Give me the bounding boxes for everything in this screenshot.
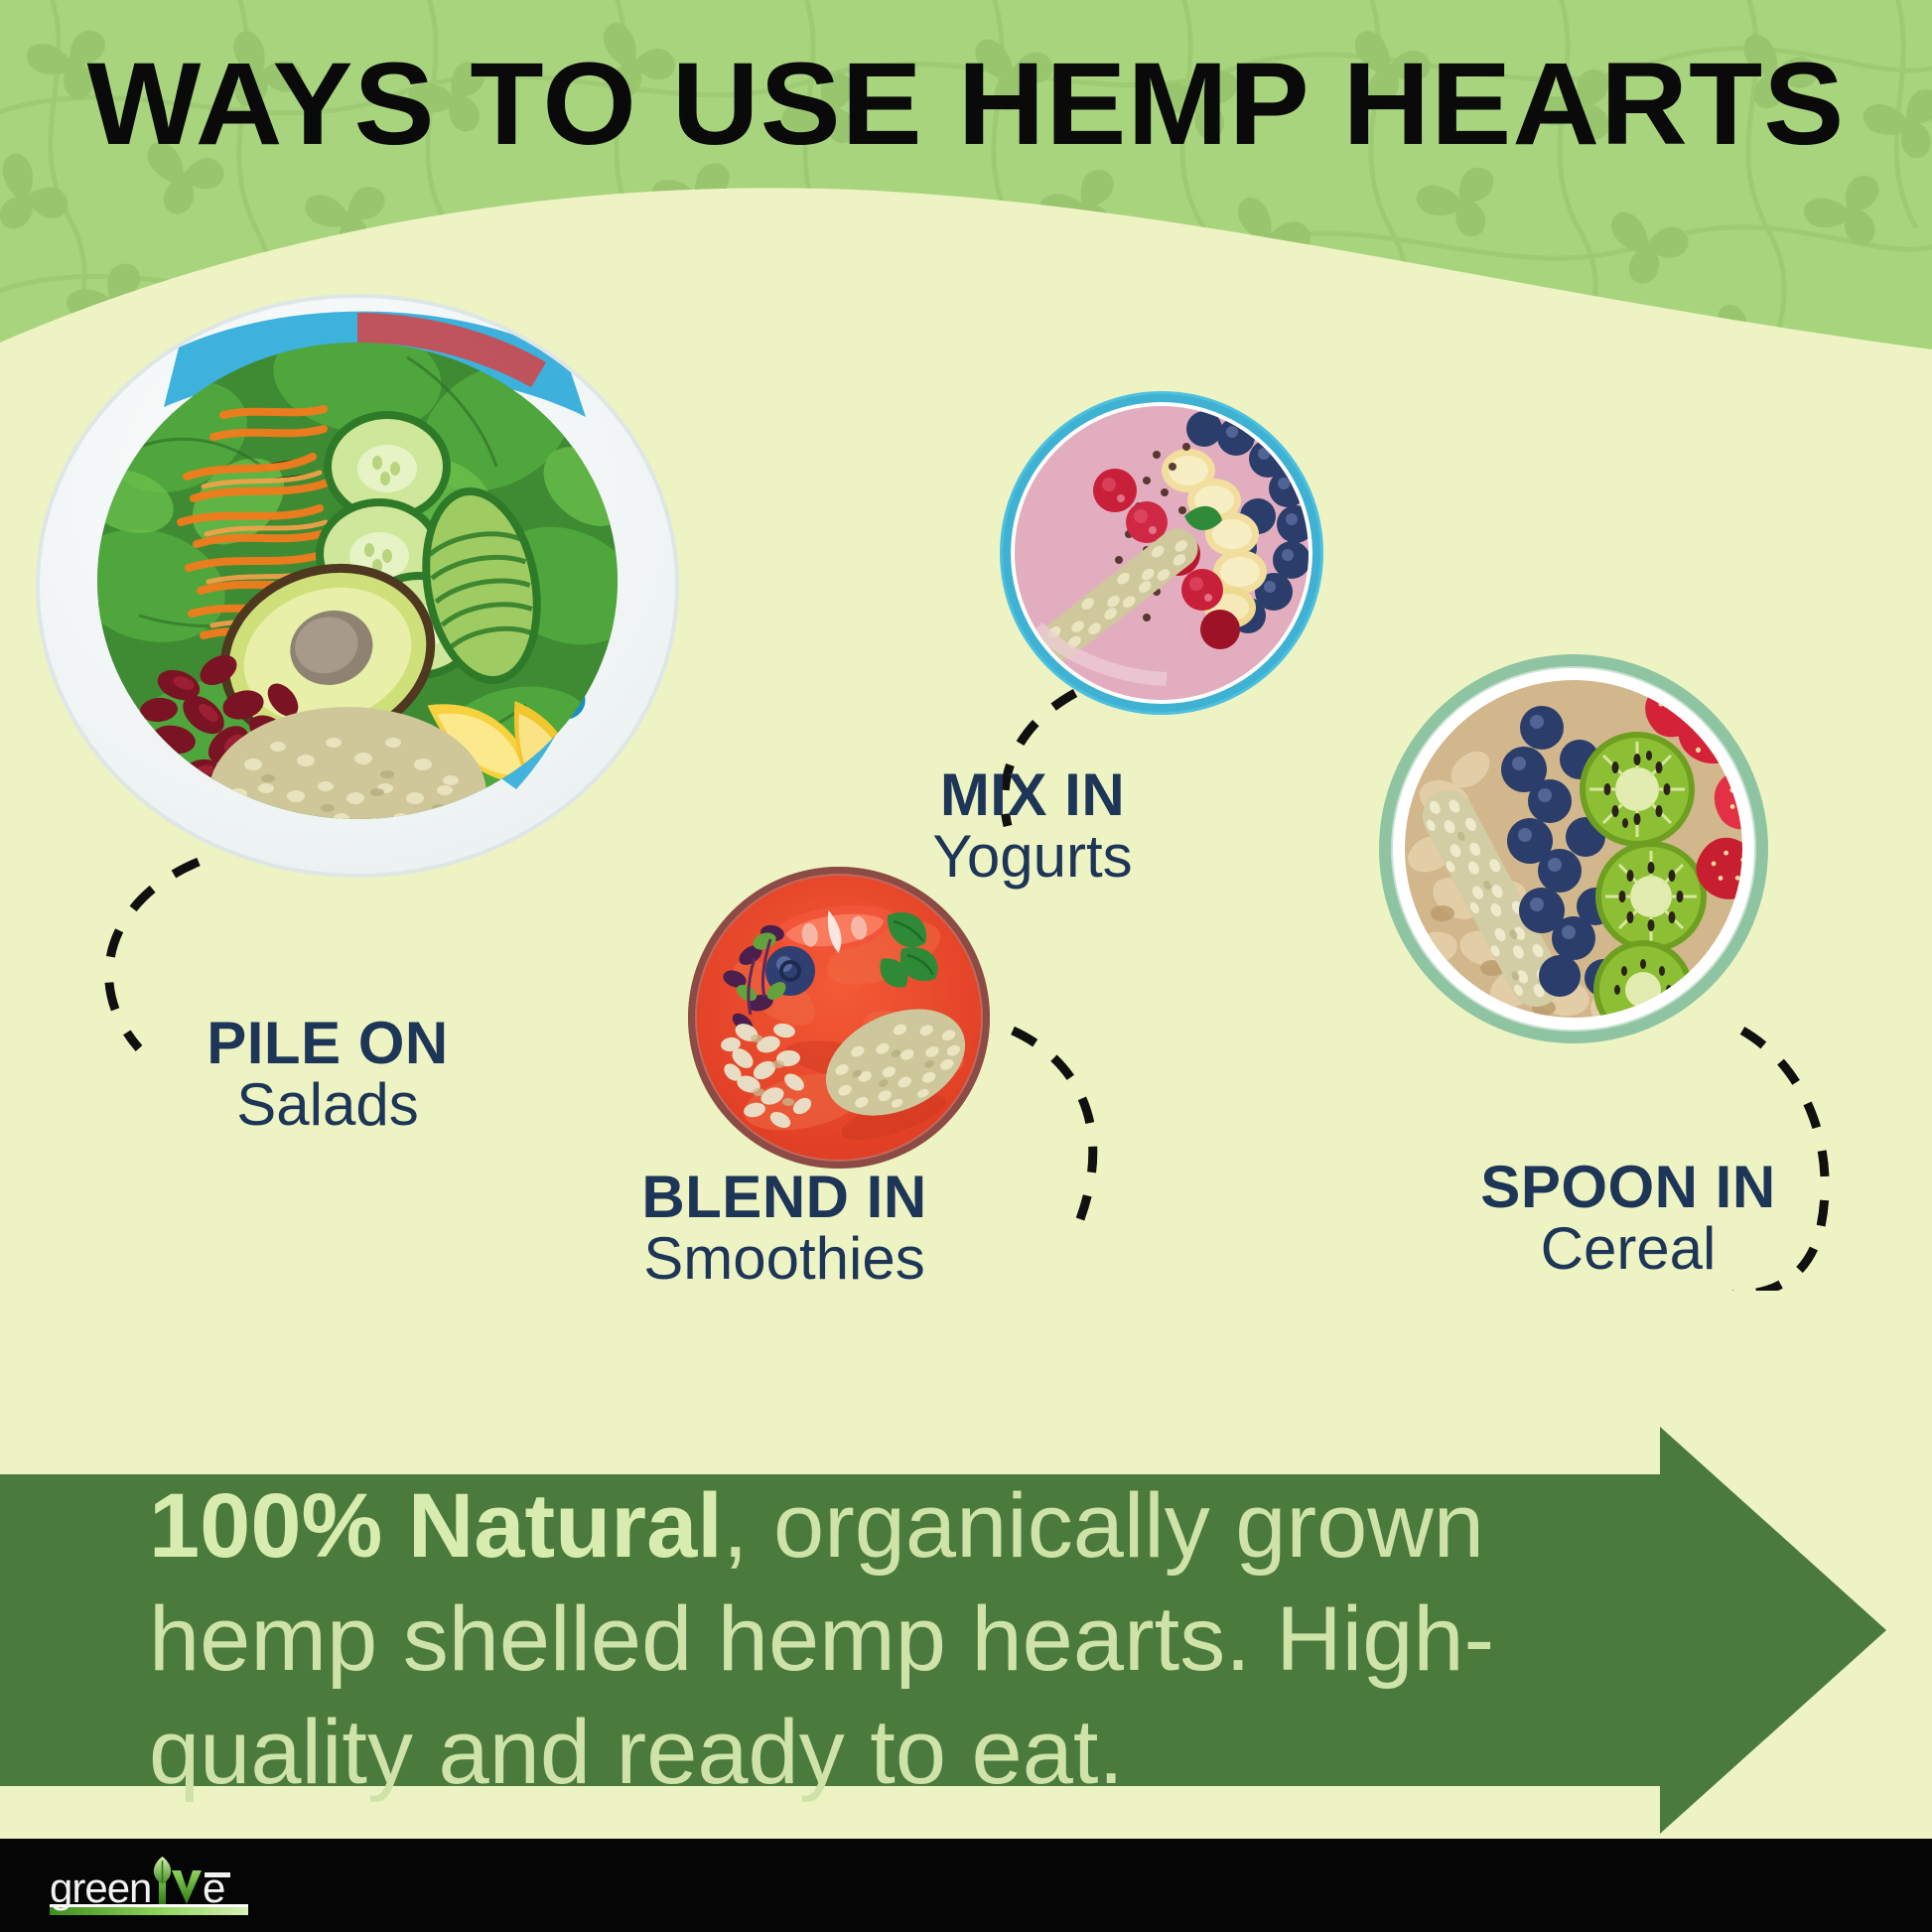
callout-salads-top: PILE ON (119, 1013, 536, 1074)
greenive-logo[interactable]: green e (42, 1855, 300, 1916)
banner-text: 100% Natural, organically grown hemp she… (149, 1469, 1618, 1809)
smoothies-image (685, 864, 993, 1172)
infographic-poster: WAYS TO USE HEMP HEARTS (0, 0, 1932, 1932)
callout-smoothies: BLEND IN Smoothies (536, 1167, 1033, 1291)
callout-smoothies-top: BLEND IN (536, 1167, 1033, 1228)
callout-yogurts-bottom: Yogurts (814, 826, 1251, 888)
callout-yogurts: MIX IN Yogurts (814, 764, 1251, 889)
callout-salads: PILE ON Salads (119, 1013, 536, 1137)
callout-cereal-top: SPOON IN (1390, 1157, 1866, 1218)
yogurts-image (998, 389, 1325, 717)
callout-yogurts-top: MIX IN (814, 764, 1251, 826)
page-title: WAYS TO USE HEMP HEARTS (0, 44, 1932, 167)
svg-text:e: e (203, 1864, 225, 1911)
svg-text:green: green (50, 1864, 151, 1911)
callout-salads-bottom: Salads (119, 1074, 536, 1136)
banner-lead: 100% Natural (149, 1475, 723, 1577)
salads-image (30, 288, 685, 884)
callout-smoothies-bottom: Smoothies (536, 1228, 1033, 1290)
callout-cereal-bottom: Cereal (1390, 1218, 1866, 1280)
cereal-image (1375, 650, 1772, 1047)
callout-cereal: SPOON IN Cereal (1390, 1157, 1866, 1281)
